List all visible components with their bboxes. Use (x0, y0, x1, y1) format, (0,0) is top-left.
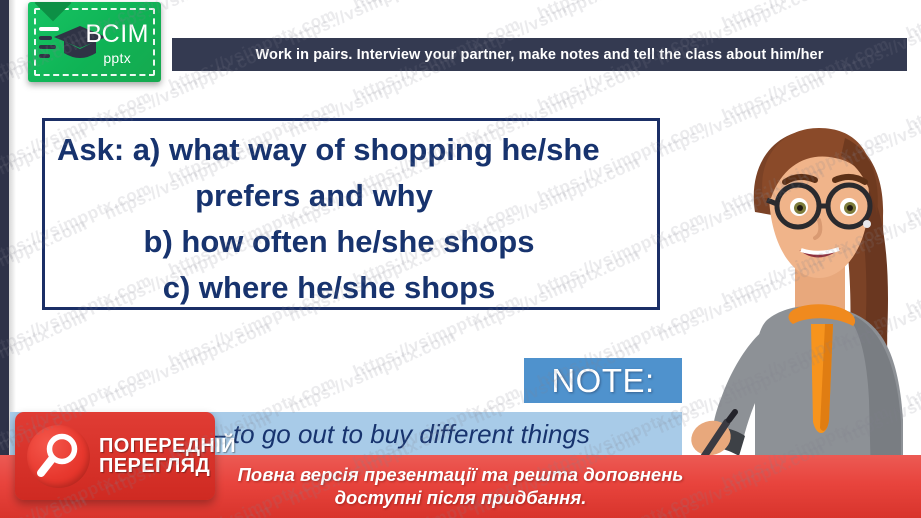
preview-badge-text: ПОПЕРЕДНІЙ ПЕРЕГЛЯД (99, 436, 236, 477)
bottom-banner-line-2: доступні після придбання. (335, 487, 587, 510)
preview-badge-line-1: ПОПЕРЕДНІЙ (99, 436, 236, 456)
magnifier-icon (27, 425, 90, 488)
vsimpptx-logo[interactable]: ВСІМ pptx (28, 2, 161, 82)
left-edge-strip (0, 0, 9, 518)
slide-canvas: ВСІМ pptx Work in pairs. Interview your … (0, 0, 921, 518)
header-instruction-text: Work in pairs. Interview your partner, m… (256, 47, 824, 63)
header-instruction-bar: Work in pairs. Interview your partner, m… (172, 38, 907, 71)
logo-text: ВСІМ pptx (85, 22, 149, 65)
bottom-banner-line-1: Повна версія презентації та решта доповн… (238, 464, 684, 487)
question-line-1: Ask: a) what way of shopping he/she (55, 127, 645, 173)
question-line-3: b) how often he/she shops (55, 219, 645, 265)
preview-badge-line-2: ПЕРЕГЛЯД (99, 456, 236, 476)
question-box: Ask: a) what way of shopping he/she pref… (42, 118, 660, 310)
preview-badge[interactable]: ПОПЕРЕДНІЙ ПЕРЕГЛЯД (15, 412, 215, 500)
note-label: NOTE: (551, 362, 654, 400)
logo-brand-text: ВСІМ (85, 22, 149, 47)
question-line-2: prefers and why (55, 173, 645, 219)
teacher-character-illustration (659, 120, 921, 480)
logo-extension-text: pptx (85, 51, 149, 65)
question-line-4: c) where he/she shops (55, 265, 645, 311)
